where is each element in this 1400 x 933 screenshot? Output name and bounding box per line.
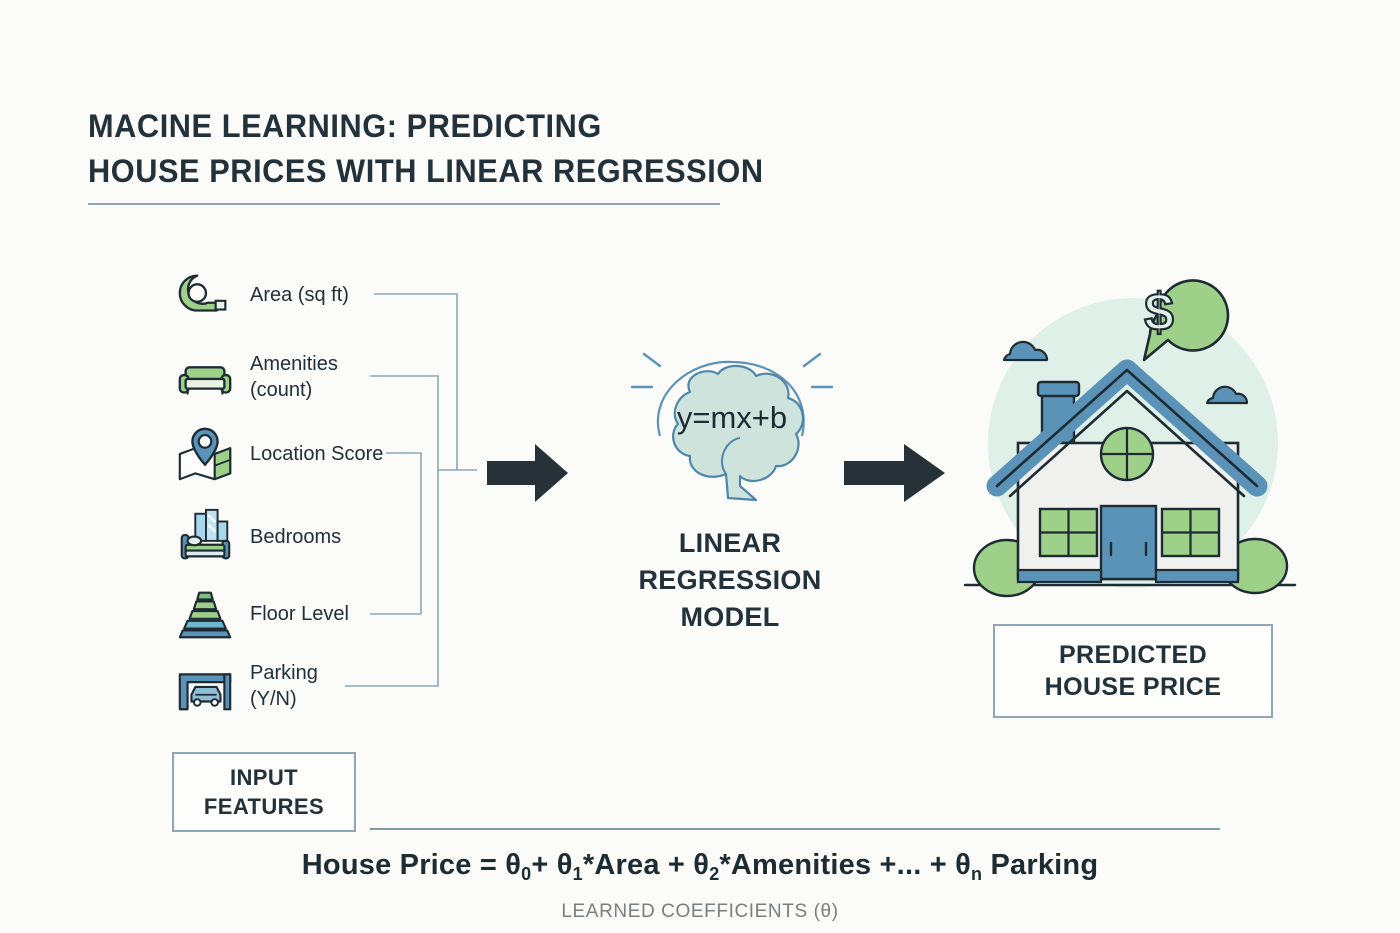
predicted-house-price-label: PREDICTED HOUSE PRICE — [1045, 639, 1222, 703]
map-pin-icon — [174, 423, 236, 485]
arrow-right-icon-2 — [842, 442, 947, 504]
feature-label-floor-level: Floor Level — [250, 601, 349, 627]
house-scene: $ — [955, 258, 1305, 598]
model-formula-text: y=mx+b — [677, 400, 787, 435]
equation-term1: *Area + — [583, 849, 693, 881]
infographic-canvas: MACINE LEARNING: PREDICTING HOUSE PRICES… — [0, 0, 1400, 933]
bottom-divider — [370, 828, 1220, 830]
garage-car-icon — [174, 655, 236, 717]
equation-sub1: 1 — [573, 864, 583, 884]
feature-label-location-score: Location Score — [250, 441, 383, 467]
input-features-box[interactable]: INPUT FEATURES — [172, 752, 356, 832]
page-title: MACINE LEARNING: PREDICTING HOUSE PRICES… — [88, 104, 848, 194]
equation-sub2: 2 — [709, 864, 719, 884]
input-features-label: INPUT FEATURES — [204, 763, 324, 821]
feature-label-bedrooms: Bedrooms — [250, 524, 341, 550]
feature-item-parking[interactable]: Parking (Y/N) — [174, 655, 318, 717]
feature-item-area[interactable]: Area (sq ft) — [174, 264, 349, 326]
bed-building-icon — [174, 506, 236, 568]
layered-pyramid-icon — [174, 583, 236, 645]
equation-theta2: θ — [693, 849, 709, 881]
learned-coefficients-caption: LEARNED COEFFICIENTS (θ) — [0, 901, 1400, 923]
title-divider — [88, 203, 720, 205]
svg-text:$: $ — [1144, 283, 1173, 342]
equation-term2: *Amenities +... + — [719, 849, 955, 881]
equation-theta0: θ — [505, 849, 521, 881]
feature-label-amenities: Amenities (count) — [250, 351, 338, 403]
equation-theta1: θ — [557, 849, 573, 881]
brain-icon: y=mx+b — [620, 340, 855, 530]
sofa-icon — [174, 346, 236, 408]
equation-plus1: + — [531, 849, 556, 881]
feature-item-floor-level[interactable]: Floor Level — [174, 583, 349, 645]
chimney-cap — [1038, 382, 1079, 396]
equation-sub0: 0 — [521, 864, 531, 884]
feature-item-bedrooms[interactable]: Bedrooms — [174, 506, 341, 568]
equation-thetan: θ — [955, 849, 971, 881]
feature-label-area: Area (sq ft) — [250, 282, 349, 308]
equation-lhs: House Price = — [302, 849, 505, 881]
predicted-house-price-box[interactable]: PREDICTED HOUSE PRICE — [993, 624, 1273, 718]
front-door — [1101, 506, 1156, 579]
title-line-1: MACINE LEARNING: PREDICTING — [88, 104, 818, 149]
regression-equation: House Price = θ0+ θ1*Area + θ2*Amenities… — [0, 849, 1400, 882]
equation-subn: n — [971, 864, 982, 884]
porch-right — [1156, 570, 1238, 582]
feature-item-location-score[interactable]: Location Score — [174, 423, 383, 485]
feature-item-amenities[interactable]: Amenities (count) — [174, 346, 338, 408]
feature-label-parking: Parking (Y/N) — [250, 660, 318, 712]
measuring-tape-icon — [174, 264, 236, 326]
arrow-right-icon-1 — [485, 442, 570, 504]
equation-termn: Parking — [982, 849, 1098, 881]
title-line-2: HOUSE PRICES WITH LINEAR REGRESSION — [88, 149, 818, 194]
model-label: LINEAR REGRESSION MODEL — [590, 525, 870, 636]
porch-left — [1018, 570, 1101, 582]
